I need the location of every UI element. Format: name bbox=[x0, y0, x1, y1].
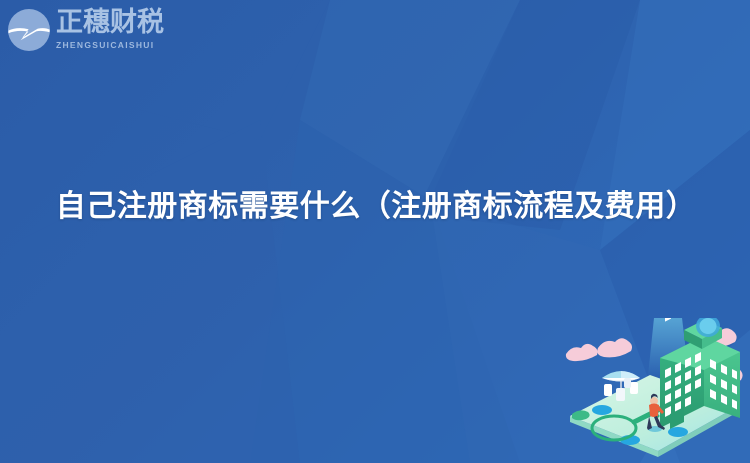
page-title: 自己注册商标需要什么（注册商标流程及费用） bbox=[50, 186, 702, 228]
logo-chinese-name: 正穗财税 bbox=[56, 8, 176, 38]
accent-spot bbox=[592, 405, 612, 415]
cloud-left-upper bbox=[566, 344, 598, 361]
brand-logo[interactable]: 正穗财税 ZHENGSUICAISHUI bbox=[6, 6, 176, 58]
logo-pinyin: ZHENGSUICAISHUI bbox=[56, 40, 176, 50]
cloud-left-lower bbox=[597, 338, 632, 357]
logo-wordmark: 正穗财税 ZHENGSUICAISHUI bbox=[56, 8, 176, 50]
marketing-banner: 正穗财税 ZHENGSUICAISHUI 自己注册商标需要什么（注册商标流程及费… bbox=[0, 0, 750, 463]
illustration-isometric-office bbox=[558, 318, 750, 463]
logo-circle-lightning-icon bbox=[6, 7, 52, 53]
